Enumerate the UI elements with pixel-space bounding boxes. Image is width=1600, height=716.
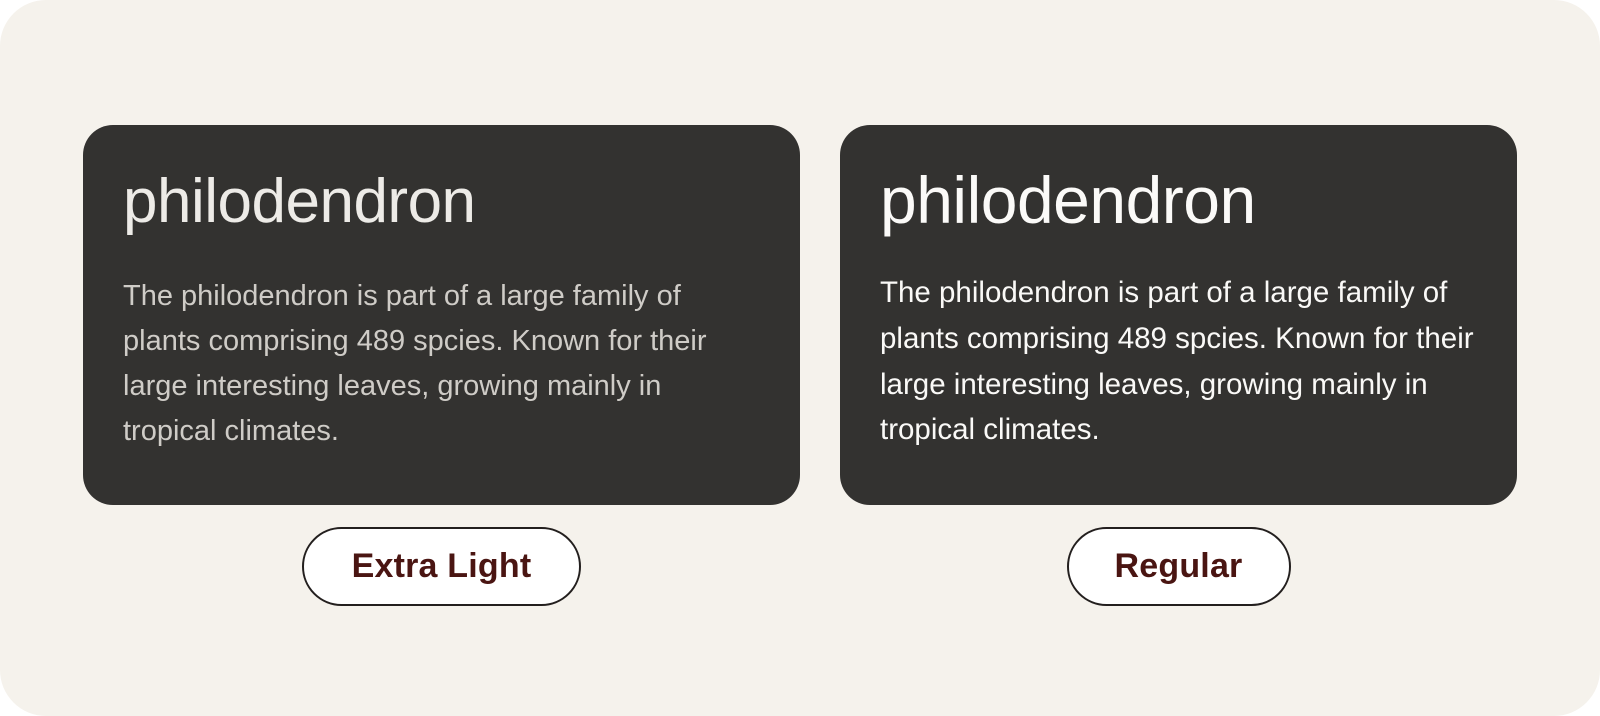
page-canvas: philodendron The philodendron is part of… bbox=[0, 0, 1600, 716]
font-specimen-row: philodendron The philodendron is part of… bbox=[0, 0, 1600, 716]
specimen-card-extra-light: philodendron The philodendron is part of… bbox=[83, 125, 800, 505]
specimen-regular: philodendron The philodendron is part of… bbox=[840, 125, 1517, 606]
specimen-card-regular: philodendron The philodendron is part of… bbox=[840, 125, 1517, 505]
weight-label-regular[interactable]: Regular bbox=[1067, 527, 1291, 606]
card-body-extra-light: The philodendron is part of a large fami… bbox=[123, 274, 760, 454]
specimen-extra-light: philodendron The philodendron is part of… bbox=[83, 125, 800, 606]
card-title-extra-light: philodendron bbox=[123, 161, 760, 236]
card-title-regular: philodendron bbox=[880, 161, 1477, 236]
card-body-regular: The philodendron is part of a large fami… bbox=[880, 270, 1477, 453]
weight-label-extra-light[interactable]: Extra Light bbox=[302, 527, 582, 606]
